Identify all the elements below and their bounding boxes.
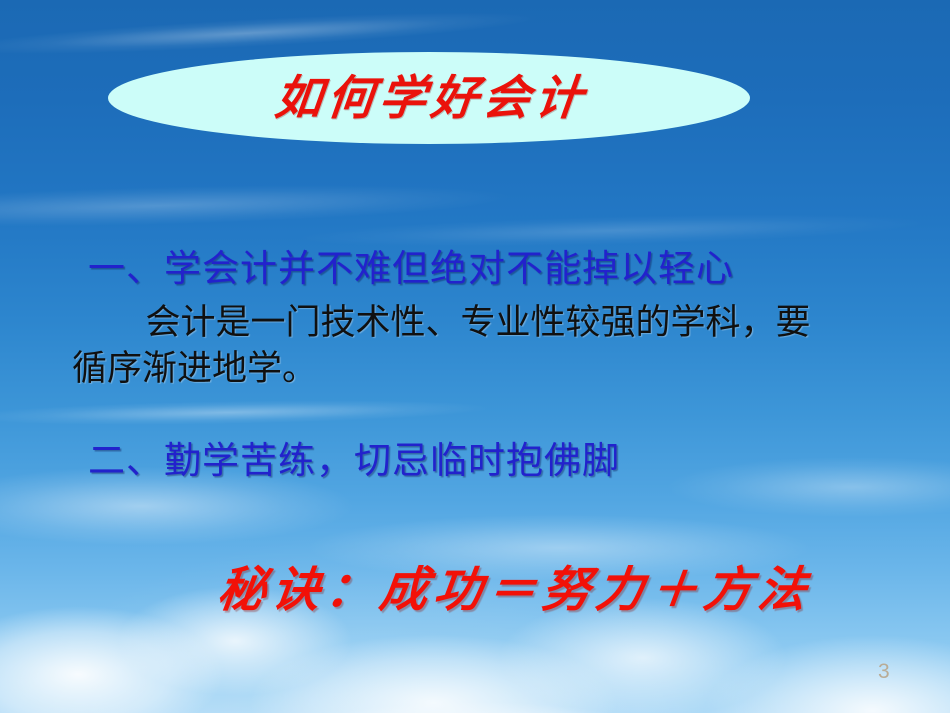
page-number: 3 (878, 660, 890, 684)
presentation-slide: 如何学好会计 一、学会计并不难但绝对不能掉以轻心 会计是一门技术性、专业性较强的… (0, 0, 950, 713)
slide-title: 如何学好会计 (269, 75, 590, 122)
slogan-text: 秘诀：成功＝努力＋方法 (215, 566, 815, 614)
body-paragraph: 会计是一门技术性、专业性较强的学科，要循序渐进地学。 (72, 300, 832, 392)
heading-item-one: 一、学会计并不难但绝对不能掉以轻心 (88, 238, 734, 292)
title-ellipse-shape: 如何学好会计 (108, 52, 750, 144)
heading-item-two: 二、勤学苦练，切忌临时抱佛脚 (88, 430, 620, 484)
